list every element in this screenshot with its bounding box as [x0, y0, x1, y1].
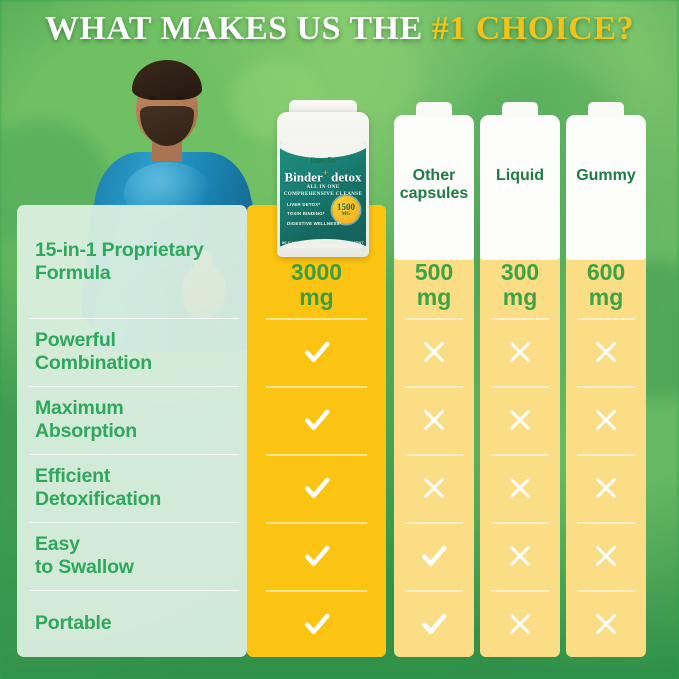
feature-label-5: Portable [35, 612, 235, 635]
cross-icon [591, 541, 621, 571]
product-brand: Enerfix [280, 156, 366, 165]
feature-label-3: EfficientDetoxification [35, 465, 235, 511]
feature-label-1-line1: Combination [35, 352, 235, 375]
feature-label-1: PowerfulCombination [35, 329, 235, 375]
feature-row-divider [29, 590, 239, 591]
athlete-eye-right [176, 96, 184, 100]
dose-unit-product: mg [291, 285, 342, 309]
row-divider [491, 386, 549, 388]
cell-gummy-row0: 600mg [566, 205, 646, 318]
feature-label-2: MaximumAbsorption [35, 397, 235, 443]
cell-other-capsules-row0: 500mg [394, 205, 474, 318]
cell-product-row3 [247, 454, 386, 522]
product-name-secondary: detox [331, 169, 361, 184]
check-icon [419, 541, 449, 571]
product-name-plus: + [323, 168, 328, 178]
row-divider [491, 590, 549, 592]
check-icon [302, 405, 332, 435]
row-divider [266, 522, 366, 524]
feature-label-4-line0: Easy [35, 533, 235, 556]
cross-icon [419, 337, 449, 367]
feature-label-2-line0: Maximum [35, 397, 235, 420]
dose-value-gummy: 600 [587, 259, 625, 285]
product-subtitle: ALL IN ONE COMPREHENSIVE CLEANSE [280, 184, 366, 198]
cell-liquid-row1 [480, 318, 560, 386]
cross-icon [505, 541, 535, 571]
row-divider [577, 522, 635, 524]
row-divider [577, 386, 635, 388]
dose-other-capsules: 500mg [415, 214, 453, 308]
dosage-badge-unit: MG [342, 212, 351, 218]
column-gummy[interactable]: 600mg [566, 205, 646, 657]
dose-unit-gummy: mg [587, 285, 625, 309]
dose-value-other-capsules: 500 [415, 259, 453, 285]
row-divider [405, 318, 463, 320]
column-liquid[interactable]: 300mg [480, 205, 560, 657]
cell-other-capsules-row2 [394, 386, 474, 454]
product-subtitle-line1: ALL IN ONE [307, 184, 340, 190]
athlete-eye-left [148, 96, 156, 100]
product-benefit-2: DIGESTIVE WELLNESS* [287, 219, 342, 228]
cell-gummy-row2 [566, 386, 646, 454]
check-icon [302, 541, 332, 571]
cell-product-row2 [247, 386, 386, 454]
leaf-blur-2 [470, 70, 620, 180]
feature-label-4: Easyto Swallow [35, 533, 235, 579]
product-name: Binder+ detox [280, 168, 366, 185]
row-divider [577, 590, 635, 592]
cell-other-capsules-row5 [394, 590, 474, 657]
cell-product-row4 [247, 522, 386, 590]
dose-unit-other-capsules: mg [415, 285, 453, 309]
cell-product-row1 [247, 318, 386, 386]
feature-label-1-line0: Powerful [35, 329, 235, 352]
page-title-gold: #1 CHOICE? [432, 10, 634, 47]
dose-gummy: 600mg [587, 214, 625, 308]
cell-other-capsules-row4 [394, 522, 474, 590]
feature-label-0: 15-in-1 ProprietaryFormula [35, 239, 235, 285]
dose-liquid: 300mg [501, 214, 539, 308]
cell-liquid-row4 [480, 522, 560, 590]
cell-gummy-row4 [566, 522, 646, 590]
page-title-white: WHAT MAKES US THE [45, 10, 423, 47]
cross-icon [591, 473, 621, 503]
cross-icon [419, 473, 449, 503]
cell-gummy-row5 [566, 590, 646, 657]
cross-icon [591, 609, 621, 639]
cell-other-capsules-row3 [394, 454, 474, 522]
check-icon [302, 473, 332, 503]
row-divider [405, 386, 463, 388]
product-label-footer: 90 CAPSULES DIETARY SUPPLEMENT [280, 240, 366, 245]
row-divider [266, 318, 366, 320]
check-icon [419, 609, 449, 639]
row-divider [491, 318, 549, 320]
row-divider [266, 386, 366, 388]
row-divider [491, 454, 549, 456]
row-divider [405, 522, 463, 524]
dosage-badge-number: 1500 [337, 203, 355, 212]
row-divider [266, 454, 366, 456]
feature-row-divider [29, 522, 239, 523]
cross-icon [419, 405, 449, 435]
row-divider [577, 318, 635, 320]
cross-icon [591, 405, 621, 435]
cross-icon [505, 405, 535, 435]
page-title: WHAT MAKES US THE #1 CHOICE? [0, 10, 679, 48]
feature-label-3-line1: Detoxification [35, 488, 235, 511]
cell-product-row5 [247, 590, 386, 657]
column-product[interactable]: 3000mg [247, 205, 386, 657]
feature-label-4-line1: to Swallow [35, 556, 235, 579]
row-divider [266, 590, 366, 592]
cell-gummy-row1 [566, 318, 646, 386]
dose-unit-liquid: mg [501, 285, 539, 309]
cross-icon [591, 337, 621, 367]
product-name-main: Binder [284, 169, 322, 184]
check-icon [302, 337, 332, 367]
cell-gummy-row3 [566, 454, 646, 522]
feature-label-2-line1: Absorption [35, 420, 235, 443]
product-label: Enerfix Binder+ detox ALL IN ONE COMPREH… [280, 142, 366, 248]
feature-row-divider [29, 318, 239, 319]
feature-label-0-line1: Formula [35, 262, 235, 285]
dosage-badge: 1500 MG [332, 196, 360, 224]
cell-liquid-row3 [480, 454, 560, 522]
dose-value-product: 3000 [291, 259, 342, 285]
feature-row-divider [29, 454, 239, 455]
product-bottle: Enerfix Binder+ detox ALL IN ONE COMPREH… [277, 112, 369, 257]
athlete-beard [140, 106, 194, 146]
cell-liquid-row2 [480, 386, 560, 454]
dose-value-liquid: 300 [501, 259, 539, 285]
column-other-capsules[interactable]: 500mg [394, 205, 474, 657]
cross-icon [505, 473, 535, 503]
product-category: DIETARY SUPPLEMENT [315, 240, 364, 245]
row-divider [577, 454, 635, 456]
cell-liquid-row5 [480, 590, 560, 657]
cell-liquid-row0: 300mg [480, 205, 560, 318]
athlete-hair [132, 60, 202, 100]
feature-row-divider [29, 386, 239, 387]
feature-label-0-line0: 15-in-1 Proprietary [35, 239, 235, 262]
cell-other-capsules-row1 [394, 318, 474, 386]
check-icon [302, 609, 332, 639]
feature-label-3-line0: Efficient [35, 465, 235, 488]
cross-icon [505, 337, 535, 367]
product-count: 90 CAPSULES [282, 240, 312, 245]
feature-label-5-line0: Portable [35, 612, 235, 635]
row-divider [405, 590, 463, 592]
cross-icon [505, 609, 535, 639]
row-divider [405, 454, 463, 456]
row-divider [491, 522, 549, 524]
feature-label-panel: 15-in-1 ProprietaryFormulaPowerfulCombin… [17, 205, 247, 657]
